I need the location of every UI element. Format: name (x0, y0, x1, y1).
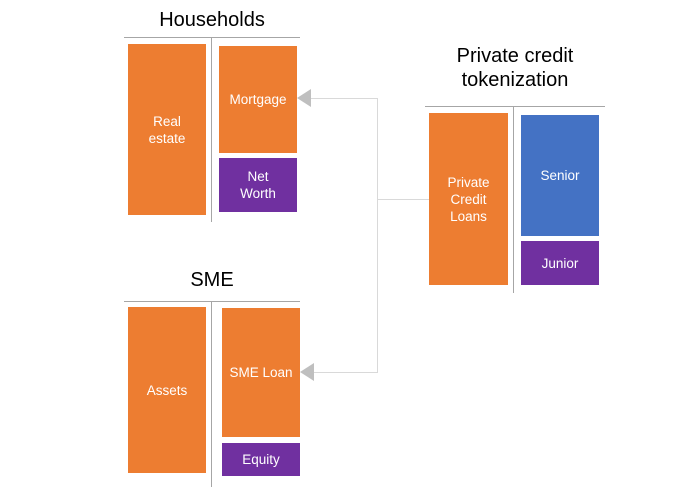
block-assets[interactable]: Assets (128, 307, 206, 473)
panel-title-sme: SME (124, 268, 300, 292)
connector-vertical-spine (377, 98, 378, 372)
panel-divider-private-credit-tokenization (513, 106, 514, 293)
panel-rule-households (124, 37, 300, 38)
block-equity[interactable]: Equity (222, 443, 300, 476)
block-sme-loan[interactable]: SME Loan (222, 308, 300, 437)
panel-title-households: Households (124, 8, 300, 32)
arrowhead-to-mortgage-icon (297, 89, 311, 107)
connector-to-sme-loan (314, 372, 378, 373)
arrowhead-to-sme-loan-icon (300, 363, 314, 381)
connector-pcl-stub (377, 199, 429, 200)
panel-rule-private-credit-tokenization (425, 106, 605, 107)
block-mortgage[interactable]: Mortgage (219, 46, 297, 153)
block-junior[interactable]: Junior (521, 241, 599, 285)
panel-title-private-credit-tokenization: Private credit tokenization (425, 44, 605, 92)
panel-divider-sme (211, 301, 212, 487)
panel-rule-sme (124, 301, 300, 302)
block-senior[interactable]: Senior (521, 115, 599, 236)
connector-to-mortgage (311, 98, 378, 99)
diagram-canvas: Households Real estate Mortgage Net Wort… (0, 0, 681, 500)
panel-divider-households (211, 37, 212, 222)
block-real-estate[interactable]: Real estate (128, 44, 206, 215)
block-net-worth[interactable]: Net Worth (219, 158, 297, 212)
block-private-credit-loans[interactable]: Private Credit Loans (429, 113, 508, 285)
